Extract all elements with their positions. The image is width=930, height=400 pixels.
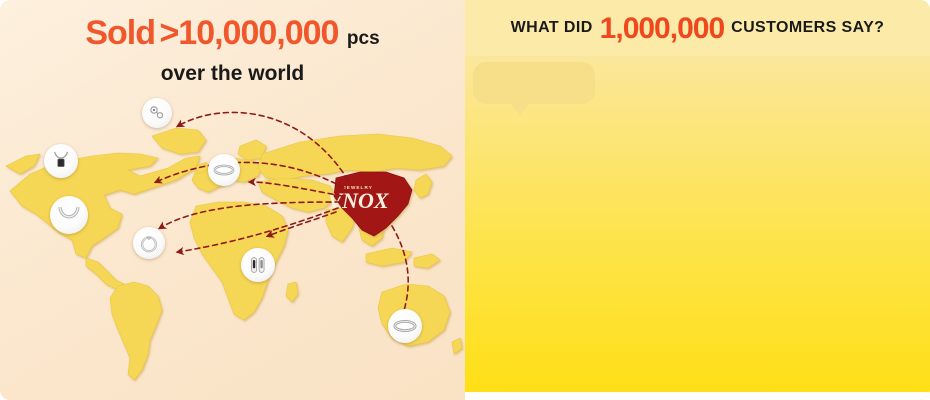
heading-suffix: CUSTOMERS SAY? — [731, 19, 884, 37]
earrings-badge — [142, 98, 172, 128]
pendant-necklace-badge — [44, 144, 78, 178]
wide-ring-icon — [393, 318, 417, 334]
page-title: Sold >10,000,000 pcs — [0, 14, 465, 53]
pendant-necklace-icon — [50, 149, 72, 173]
heading-prefix: WHAT DID — [511, 19, 593, 37]
world-map-panel: Sold >10,000,000 pcs over the world — [0, 0, 465, 400]
customer-say-heading: WHAT DID 1,000,000 CUSTOMERS SAY? — [465, 0, 930, 56]
ring-badge — [133, 227, 165, 259]
headline-subline: over the world — [0, 62, 465, 86]
heading-number: 1,000,000 — [600, 12, 724, 46]
earrings-icon — [148, 104, 166, 122]
promo-banner: Sold >10,000,000 pcs over the world — [0, 0, 930, 400]
ring-icon — [139, 233, 159, 253]
bangle-bracelet-badge — [208, 154, 240, 186]
world-map-graphic: JEWELRY VNOX — [0, 96, 465, 396]
chain-necklace-icon — [56, 203, 82, 227]
bangle-bracelet-icon — [213, 162, 235, 178]
customer-say-panel: WHAT DID 1,000,000 CUSTOMERS SAY? #NOT F… — [465, 0, 930, 400]
cufflinks-badge — [241, 248, 275, 282]
headline-unit: pcs — [347, 28, 380, 49]
wide-ring-badge — [388, 309, 422, 343]
panel-footer-strip — [465, 392, 930, 400]
cufflinks-icon — [247, 254, 269, 276]
world-map: JEWELRY VNOX — [0, 96, 465, 396]
chain-necklace-badge — [50, 196, 88, 234]
background-bubble-1 — [473, 62, 595, 104]
headline-sold: Sold — [85, 14, 155, 52]
headline-number: >10,000,000 — [159, 14, 338, 52]
